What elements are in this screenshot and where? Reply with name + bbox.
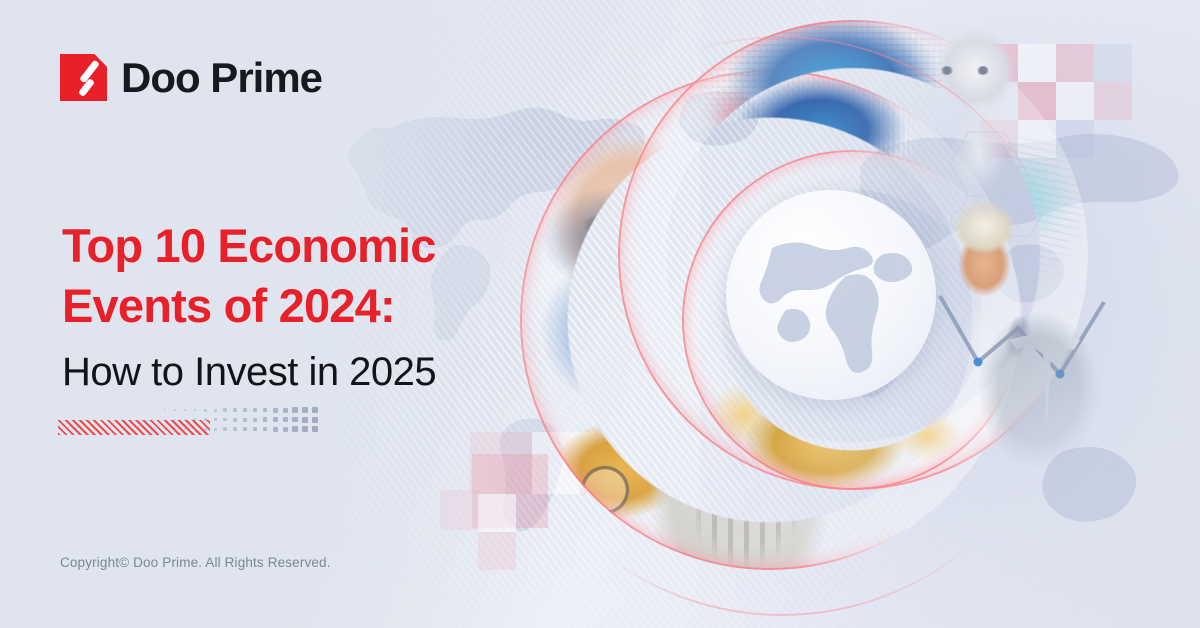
brand-name: Doo Prime	[121, 57, 322, 99]
dot-grid-cell	[155, 410, 156, 411]
dot-grid-cell	[204, 428, 207, 431]
dot-grid-cell	[155, 419, 156, 420]
dot-grid-cell	[302, 426, 308, 432]
dot-grid-cell	[263, 427, 268, 432]
dot-grid-cell	[273, 408, 278, 413]
dot-grid-cell	[243, 408, 247, 412]
dot-grid-cell	[184, 409, 186, 411]
dot-grid-cell	[164, 428, 166, 430]
dot-grid-cell	[223, 427, 226, 430]
dot-grid-cell	[292, 426, 297, 431]
dot-grid-cell	[184, 419, 186, 421]
hatched-bar-and-dot-grid-decoration	[58, 404, 318, 438]
dot-grid-cell	[292, 417, 297, 422]
dot-grid-cell	[164, 419, 166, 421]
robot-left-eye	[940, 66, 954, 75]
dot-grid-cell	[164, 409, 166, 411]
dot-grid-cell	[253, 427, 257, 431]
dot-grid-cell	[194, 418, 197, 421]
dot-grid-cell	[184, 428, 186, 430]
brand-logo[interactable]: Doo Prime	[60, 54, 322, 101]
tesla-logo-panel	[970, 302, 1120, 472]
dot-grid-cell	[243, 427, 247, 431]
robot-right-eye	[976, 66, 990, 75]
dot-grid-cell	[283, 408, 288, 413]
dot-grid-cell	[253, 418, 257, 422]
dot-grid-cell	[223, 418, 226, 421]
dot-grid-cell	[223, 408, 226, 411]
dot-grid-cell	[233, 427, 237, 431]
dot-grid-cell	[204, 409, 207, 412]
dot-grid-cell	[273, 427, 278, 432]
dot-grid-cell	[292, 407, 297, 412]
copyright-text: Copyright© Doo Prime. All Rights Reserve…	[60, 555, 331, 570]
dot-grid-cell	[233, 408, 237, 412]
dot-grid-cell	[243, 418, 247, 422]
dot-grid-cell	[214, 418, 217, 421]
dot-grid-cell	[204, 418, 207, 421]
dot-grid-cell	[312, 417, 318, 423]
dot-grid-cell	[174, 428, 176, 430]
dot-grid-cell	[283, 417, 288, 422]
dot-grid-cell	[302, 407, 308, 413]
banner-canvas: Doo Prime Top 10 Economic Events of 2024…	[0, 0, 1200, 628]
globe-continents	[759, 242, 912, 372]
dot-grid-cell	[273, 417, 278, 422]
dot-grid-cell	[263, 408, 268, 413]
dot-grid-cell	[214, 409, 217, 412]
dot-grid-cell	[302, 417, 308, 423]
dot-grid-cell	[233, 418, 237, 422]
dot-grid-cell	[253, 408, 257, 412]
dot-grid-cell	[214, 428, 217, 431]
dot-grid-cell	[174, 409, 176, 411]
dot-grid-cell	[312, 426, 318, 432]
dot-grid-cell	[155, 429, 156, 430]
page-title: Top 10 Economic Events of 2024:	[62, 216, 532, 336]
dot-grid-cell	[263, 417, 268, 422]
dot-grid-cell	[194, 409, 197, 412]
concentric-photo-rings	[500, 0, 1140, 628]
dot-grid-cell	[283, 427, 288, 432]
dot-grid-cell	[312, 407, 318, 413]
page-subtitle: How to Invest in 2025	[62, 348, 532, 396]
dot-grid-cell	[194, 428, 197, 431]
doo-prime-logo-icon	[60, 54, 107, 101]
dot-grid-icon	[150, 405, 322, 433]
dot-grid-cell	[174, 419, 176, 421]
